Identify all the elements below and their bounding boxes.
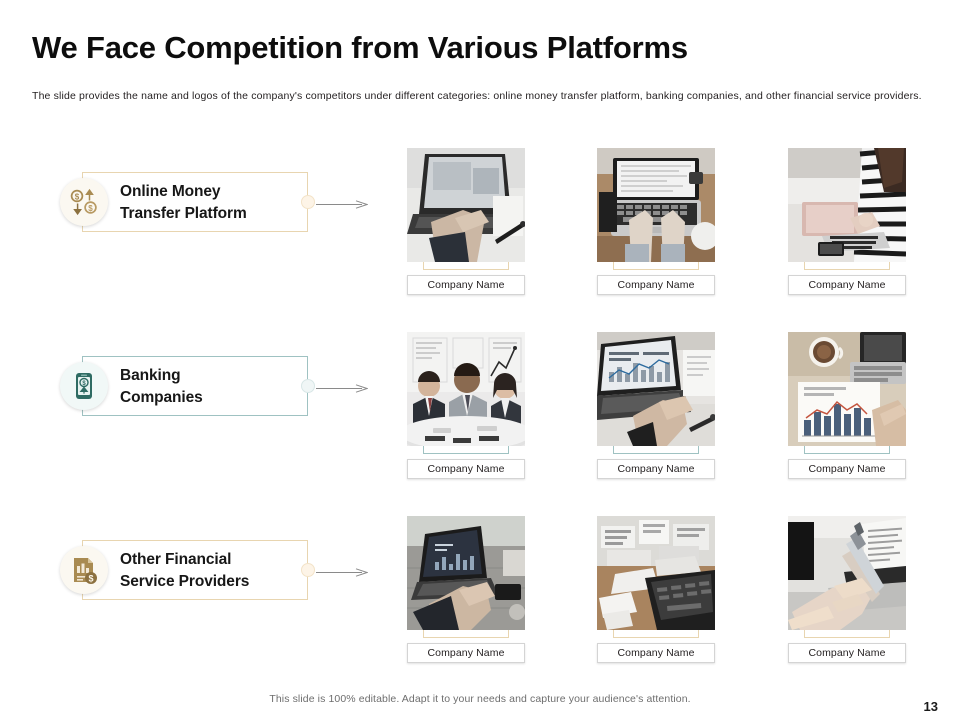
money-transfer-icon: $ $ <box>60 178 108 226</box>
laptop-on-wooden-table-photo <box>407 516 525 630</box>
card-accent-bracket <box>613 630 699 638</box>
category-block-online-money-transfer-platform[interactable]: $ $ Online Money Transfer Platform <box>60 172 308 232</box>
hands-typing-on-laptop-photo <box>407 148 525 262</box>
company-card[interactable]: Company Name <box>407 516 525 663</box>
card-accent-bracket <box>804 446 890 454</box>
category-block-banking-companies[interactable]: $ Banking Companies <box>60 356 308 416</box>
category-label: Online Money Transfer Platform <box>120 181 247 225</box>
connector-node <box>301 195 315 209</box>
card-accent-bracket <box>613 262 699 270</box>
connector-arrow-icon <box>316 568 368 577</box>
company-name-label: Company Name <box>788 459 906 479</box>
connector-arrow-icon <box>316 200 368 209</box>
category-row: $ $ Online Money Transfer Platform <box>0 140 960 300</box>
company-card[interactable]: Company Name <box>788 148 906 295</box>
company-name-label: Company Name <box>407 459 525 479</box>
hand-writing-with-pen-photo <box>788 516 906 630</box>
woman-with-laptop-and-phone-photo <box>788 148 906 262</box>
company-card[interactable]: Company Name <box>788 332 906 479</box>
footer-note: This slide is 100% editable. Adapt it to… <box>0 693 960 705</box>
hand-on-laptop-with-charts-photo <box>597 332 715 446</box>
page-title: We Face Competition from Various Platfor… <box>32 30 688 66</box>
company-name-label: Company Name <box>788 643 906 663</box>
company-name-label: Company Name <box>407 275 525 295</box>
svg-text:$: $ <box>75 192 80 201</box>
svg-text:$: $ <box>88 573 93 583</box>
company-name-label: Company Name <box>407 643 525 663</box>
card-accent-bracket <box>804 630 890 638</box>
company-name-label: Company Name <box>597 459 715 479</box>
connector-node <box>301 563 315 577</box>
svg-text:$: $ <box>88 204 93 213</box>
page-number: 13 <box>924 699 938 714</box>
overhead-laptop-keyboard-photo <box>597 148 715 262</box>
company-card[interactable]: Company Name <box>788 516 906 663</box>
connector-arrow-icon <box>316 384 368 393</box>
company-card[interactable]: Company Name <box>597 516 715 663</box>
connector-node <box>301 379 315 393</box>
category-row: $ Banking Companies <box>0 324 960 484</box>
company-card[interactable]: Company Name <box>407 332 525 479</box>
company-name-label: Company Name <box>597 643 715 663</box>
category-label: Other Financial Service Providers <box>120 549 249 593</box>
card-accent-bracket <box>423 630 509 638</box>
mobile-banking-icon: $ <box>60 362 108 410</box>
company-card[interactable]: Company Name <box>597 148 715 295</box>
category-block-other-financial-service-providers[interactable]: $ Other Financial Service Providers <box>60 540 308 600</box>
financial-report-icon: $ <box>60 546 108 594</box>
company-card[interactable]: Company Name <box>597 332 715 479</box>
desk-with-documents-and-laptop-photo <box>597 516 715 630</box>
card-accent-bracket <box>804 262 890 270</box>
page-subtitle: The slide provides the name and logos of… <box>32 90 932 102</box>
coffee-desk-with-chart-report-photo <box>788 332 906 446</box>
card-accent-bracket <box>423 446 509 454</box>
company-name-label: Company Name <box>597 275 715 295</box>
card-accent-bracket <box>423 262 509 270</box>
category-row: $ Other Financial Service Providers <box>0 508 960 668</box>
card-accent-bracket <box>613 446 699 454</box>
company-card[interactable]: Company Name <box>407 148 525 295</box>
category-label: Banking Companies <box>120 365 203 409</box>
company-name-label: Company Name <box>788 275 906 295</box>
business-team-meeting-photo <box>407 332 525 446</box>
